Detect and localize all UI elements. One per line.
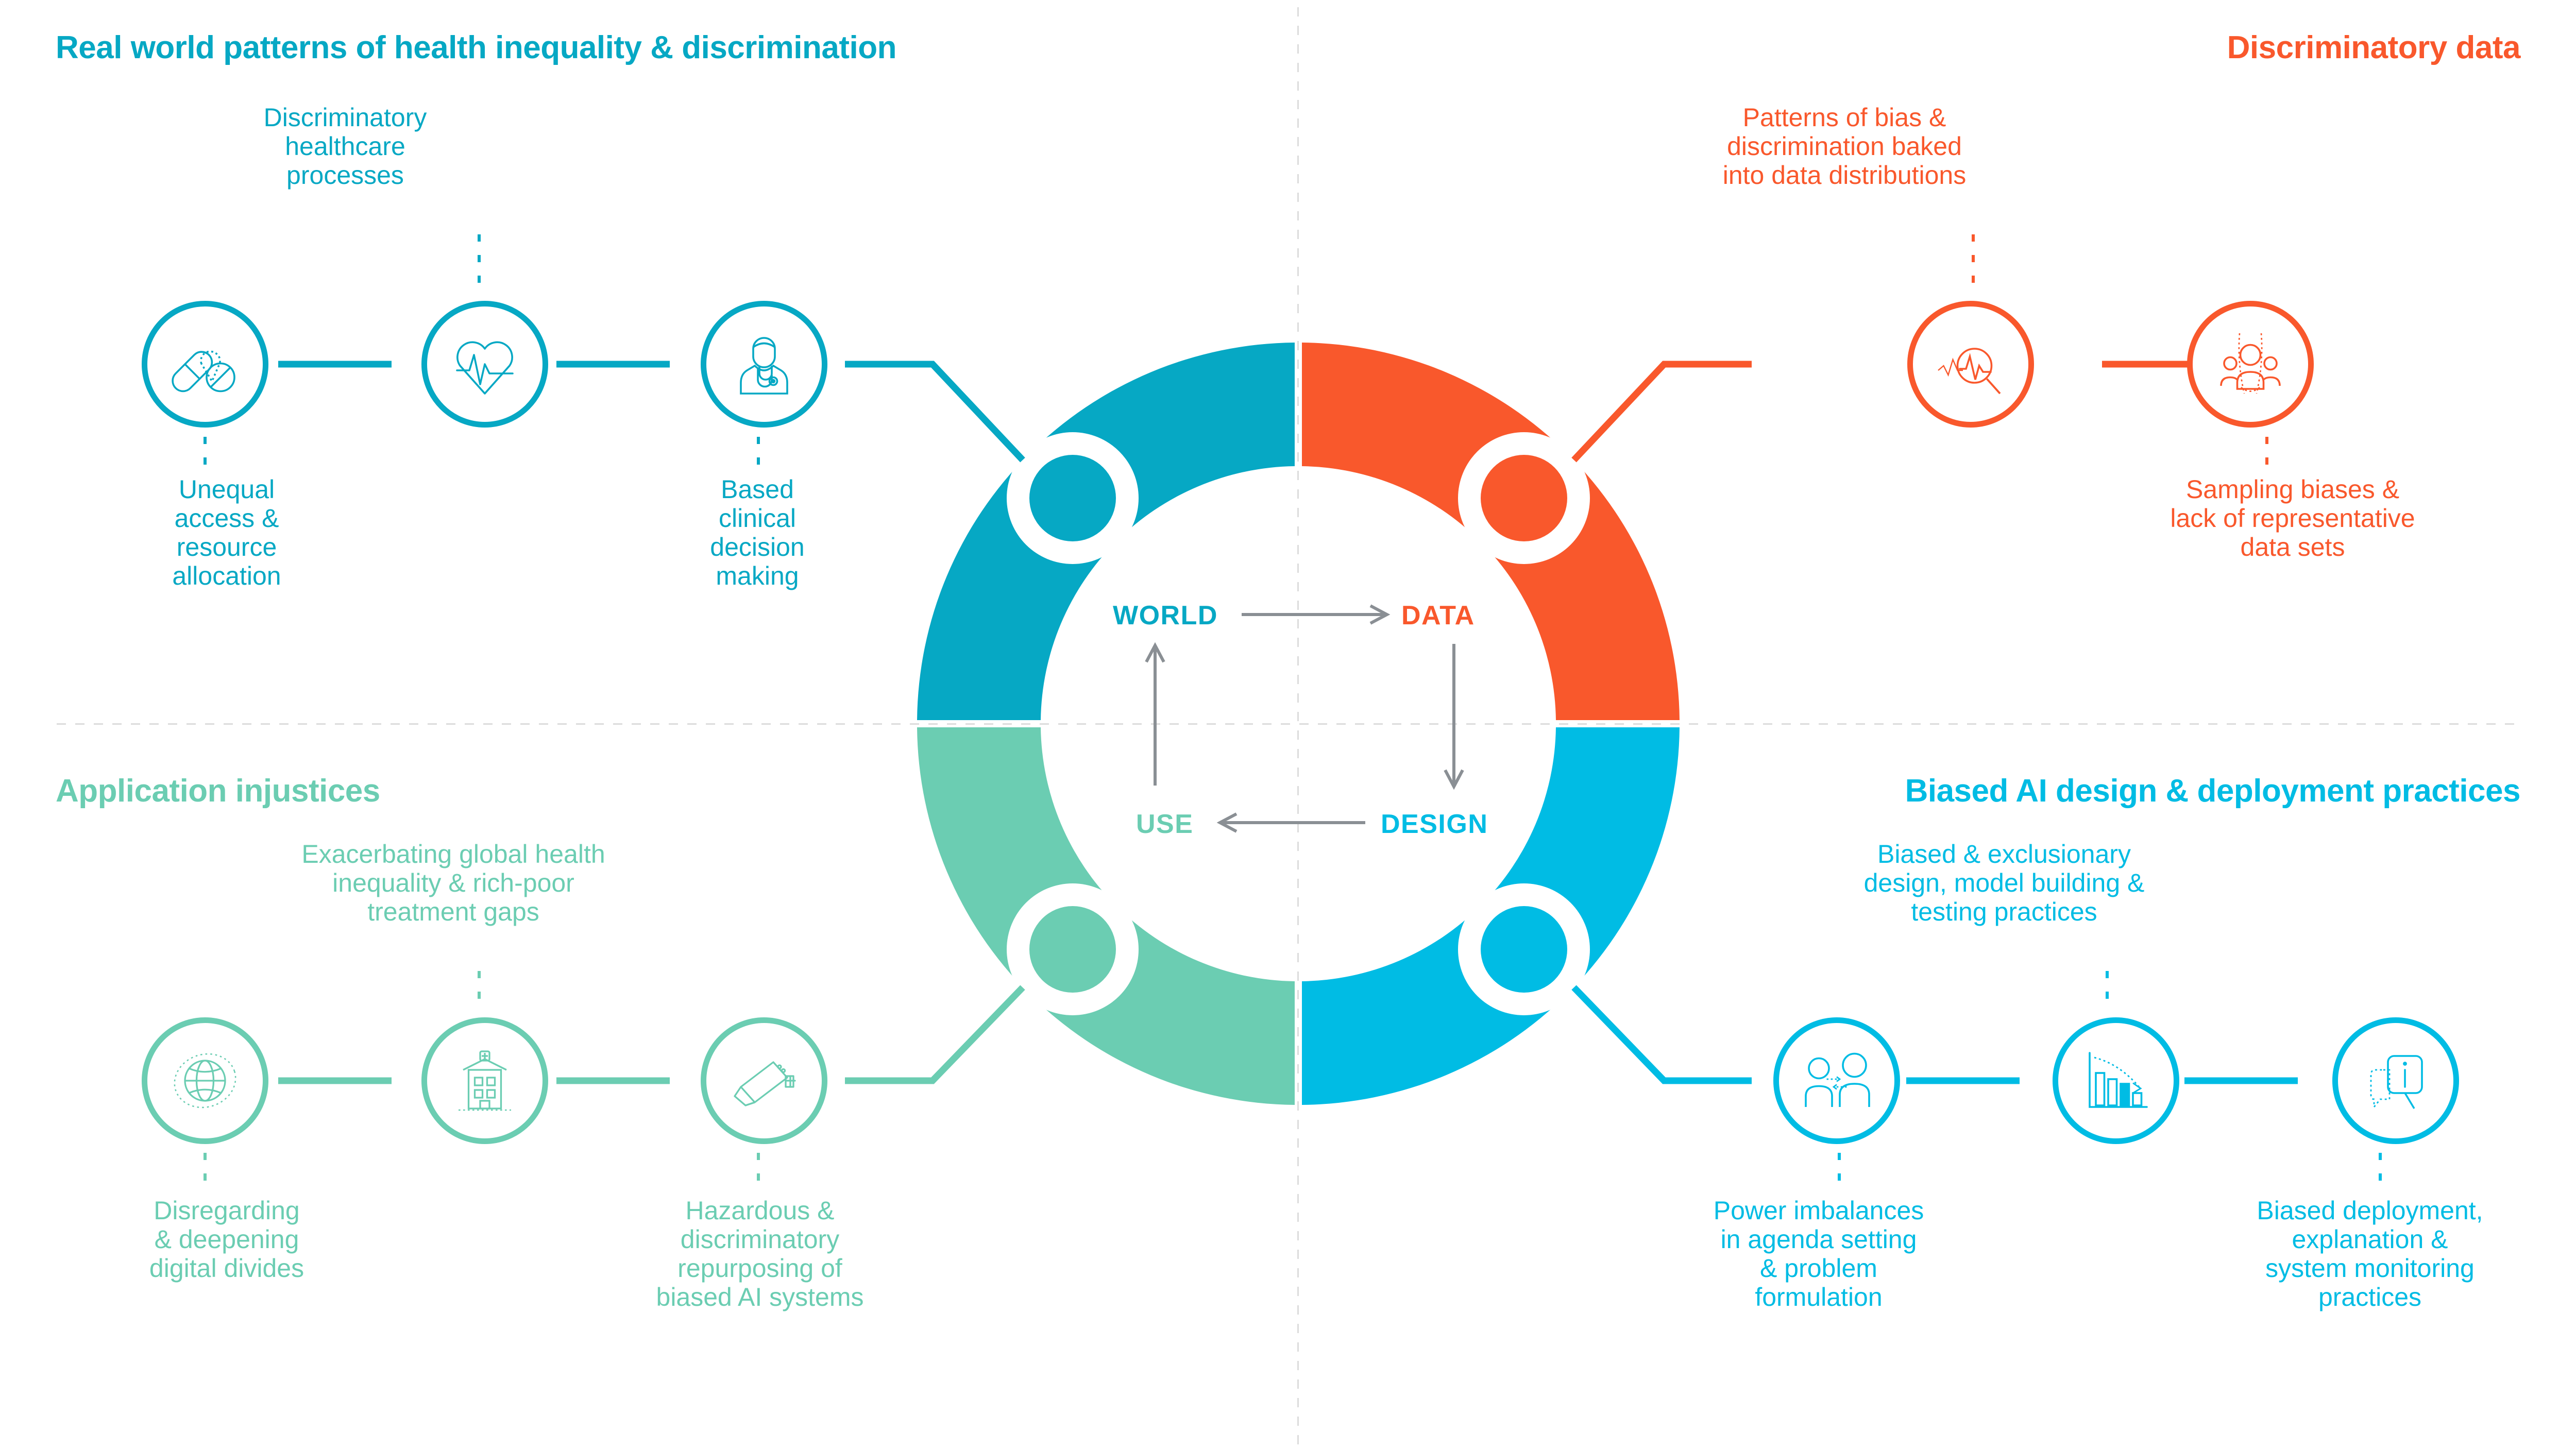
doctor-icon bbox=[725, 326, 803, 403]
cycle-label-use[interactable]: USE bbox=[1136, 809, 1193, 840]
power-imbalance-people-icon bbox=[1798, 1042, 1875, 1119]
icon-bubble-power-people[interactable] bbox=[1773, 1017, 1900, 1144]
globe-icon bbox=[166, 1042, 244, 1119]
icon-bubble-data-magnifier[interactable] bbox=[1907, 301, 2034, 428]
icon-bubble-heart-pulse[interactable] bbox=[421, 301, 548, 428]
icon-bubble-globe[interactable] bbox=[142, 1017, 268, 1144]
connector-top-left bbox=[845, 364, 1023, 460]
ring-node-dot-data[interactable] bbox=[1481, 455, 1567, 541]
cycle-label-design[interactable]: DESIGN bbox=[1381, 809, 1488, 840]
icon-bubble-people-group[interactable] bbox=[2187, 301, 2314, 428]
hospital-icon bbox=[446, 1042, 523, 1119]
icon-bubble-info[interactable] bbox=[2332, 1017, 2459, 1144]
cycle-label-world[interactable]: WORLD bbox=[1113, 600, 1218, 631]
icon-bubble-doctor[interactable] bbox=[701, 301, 827, 428]
info-speech-bubble-icon bbox=[2357, 1042, 2434, 1119]
declining-bar-chart-icon bbox=[2077, 1042, 2155, 1119]
ring-node-dot-use[interactable] bbox=[1029, 906, 1116, 993]
connector-top-right bbox=[1574, 364, 1752, 460]
icon-bubble-bar-chart[interactable] bbox=[2053, 1017, 2179, 1144]
icon-bubble-cctv[interactable] bbox=[701, 1017, 827, 1144]
heart-pulse-icon bbox=[446, 326, 523, 403]
ring-node-dot-design[interactable] bbox=[1481, 906, 1567, 993]
infographic-canvas: Real world patterns of health inequality… bbox=[0, 0, 2576, 1449]
ring-node-dot-world[interactable] bbox=[1029, 455, 1116, 541]
cycle-arrows bbox=[1146, 606, 1463, 831]
icon-bubble-pills[interactable] bbox=[142, 301, 268, 428]
cctv-camera-icon bbox=[725, 1042, 803, 1119]
connector-bottom-right bbox=[1574, 987, 1752, 1081]
connector-bottom-left bbox=[845, 987, 1023, 1081]
data-magnifier-icon bbox=[1932, 326, 2009, 403]
diagram-vector-layer bbox=[0, 0, 2576, 1449]
cycle-ring bbox=[917, 343, 1680, 1105]
icon-bubble-hospital[interactable] bbox=[421, 1017, 548, 1144]
cycle-label-data[interactable]: DATA bbox=[1401, 600, 1475, 631]
people-group-icon bbox=[2212, 326, 2289, 403]
pills-icon bbox=[166, 326, 244, 403]
